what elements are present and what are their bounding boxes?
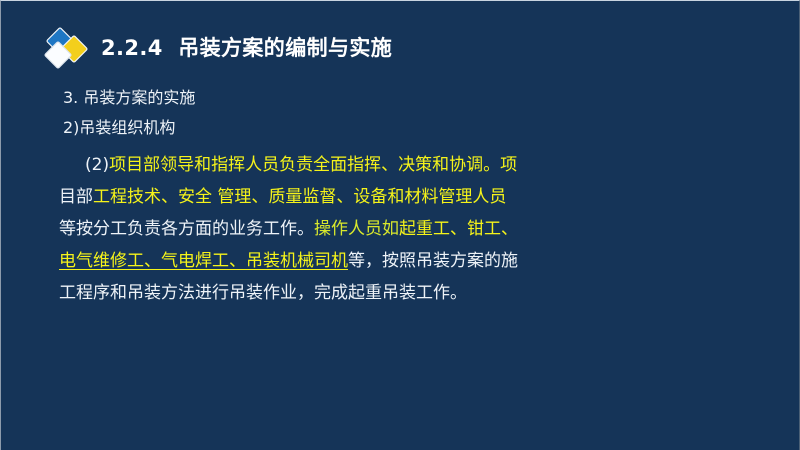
body-paragraph: (2)项目部领导和指挥人员负责全面指挥、决策和协调。项目部工程技术、安全 管理、… bbox=[1, 149, 800, 309]
text-run: 操作人员如 bbox=[314, 219, 399, 239]
paragraph-line: 目部工程技术、安全 管理、质量监督、设备和材料管理人员 bbox=[59, 181, 596, 213]
text-run: 等按分工负责各方面的业务工作。 bbox=[59, 219, 314, 239]
slide-title-bar: 2.2.4 吊装方案的编制与实施 bbox=[1, 27, 800, 71]
paragraph-line: 电气维修工、气电焊工、吊装机械司机等，按照吊装方案的施 bbox=[59, 245, 596, 277]
text-run: 电气维修工、气电焊工、吊装机械司机 bbox=[59, 251, 348, 271]
text-run: 等，按照吊装方案的施 bbox=[348, 251, 518, 271]
presentation-slide: 2.2.4 吊装方案的编制与实施 3. 吊装方案的实施 2)吊装组织机构 (2)… bbox=[0, 0, 800, 450]
paragraph-line: 工程序和吊装方法进行吊装作业，完成起重吊装工作。 bbox=[59, 277, 596, 309]
text-run: 起重工、钳工、 bbox=[399, 219, 518, 239]
text-run: 工程技术、安全 管理、质量监督、设备和材料管理人员 bbox=[93, 187, 506, 207]
text-run: 目部 bbox=[59, 187, 93, 207]
text-run: 工程序和吊装方法进行吊装作业，完成起重吊装工作。 bbox=[59, 283, 467, 303]
text-run: 项目部领导和指挥人员负责全面指挥、决策和协调。项 bbox=[109, 155, 517, 175]
text-run: (2) bbox=[85, 155, 109, 175]
slide-body: 3. 吊装方案的实施 2)吊装组织机构 (2)项目部领导和指挥人员负责全面指挥、… bbox=[1, 83, 800, 309]
paragraph-line: 等按分工负责各方面的业务工作。操作人员如起重工、钳工、 bbox=[59, 213, 596, 245]
diamond-logo-icon bbox=[45, 27, 91, 71]
page-title: 2.2.4 吊装方案的编制与实施 bbox=[101, 36, 392, 61]
heading-subsection-2: 2)吊装组织机构 bbox=[1, 113, 800, 143]
paragraph-line: (2)项目部领导和指挥人员负责全面指挥、决策和协调。项 bbox=[59, 149, 596, 181]
heading-section-3: 3. 吊装方案的实施 bbox=[1, 83, 800, 113]
